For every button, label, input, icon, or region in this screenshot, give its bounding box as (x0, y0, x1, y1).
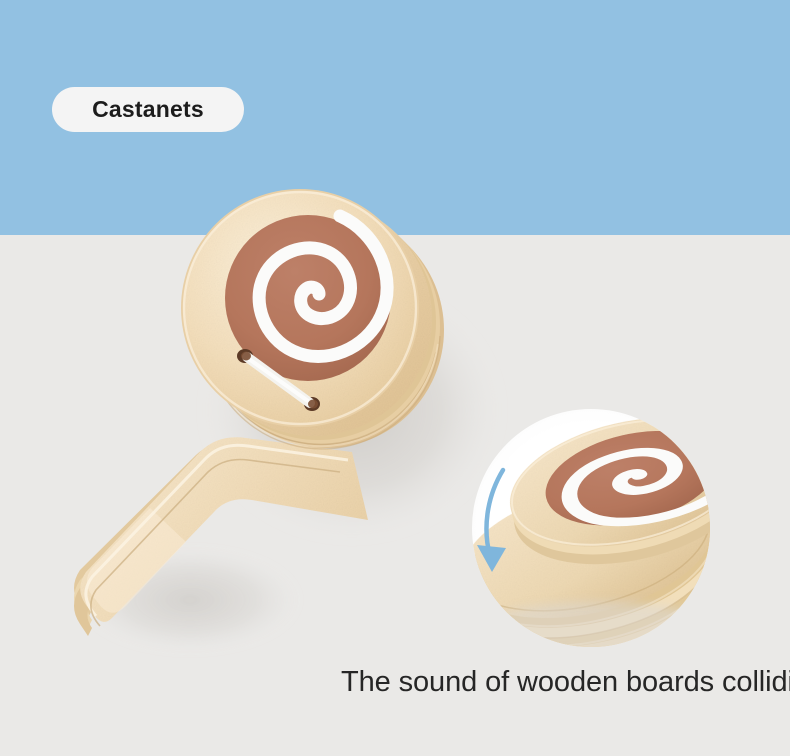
caption-text: The sound of wooden boards colliding (341, 666, 781, 699)
product-image-canvas: Castanets The sound of wooden boards col… (0, 0, 790, 756)
title-pill-label: Castanets (92, 98, 204, 121)
castanet-head (181, 189, 419, 427)
title-pill: Castanets (52, 87, 244, 132)
inset-elastic-cord (705, 451, 719, 489)
